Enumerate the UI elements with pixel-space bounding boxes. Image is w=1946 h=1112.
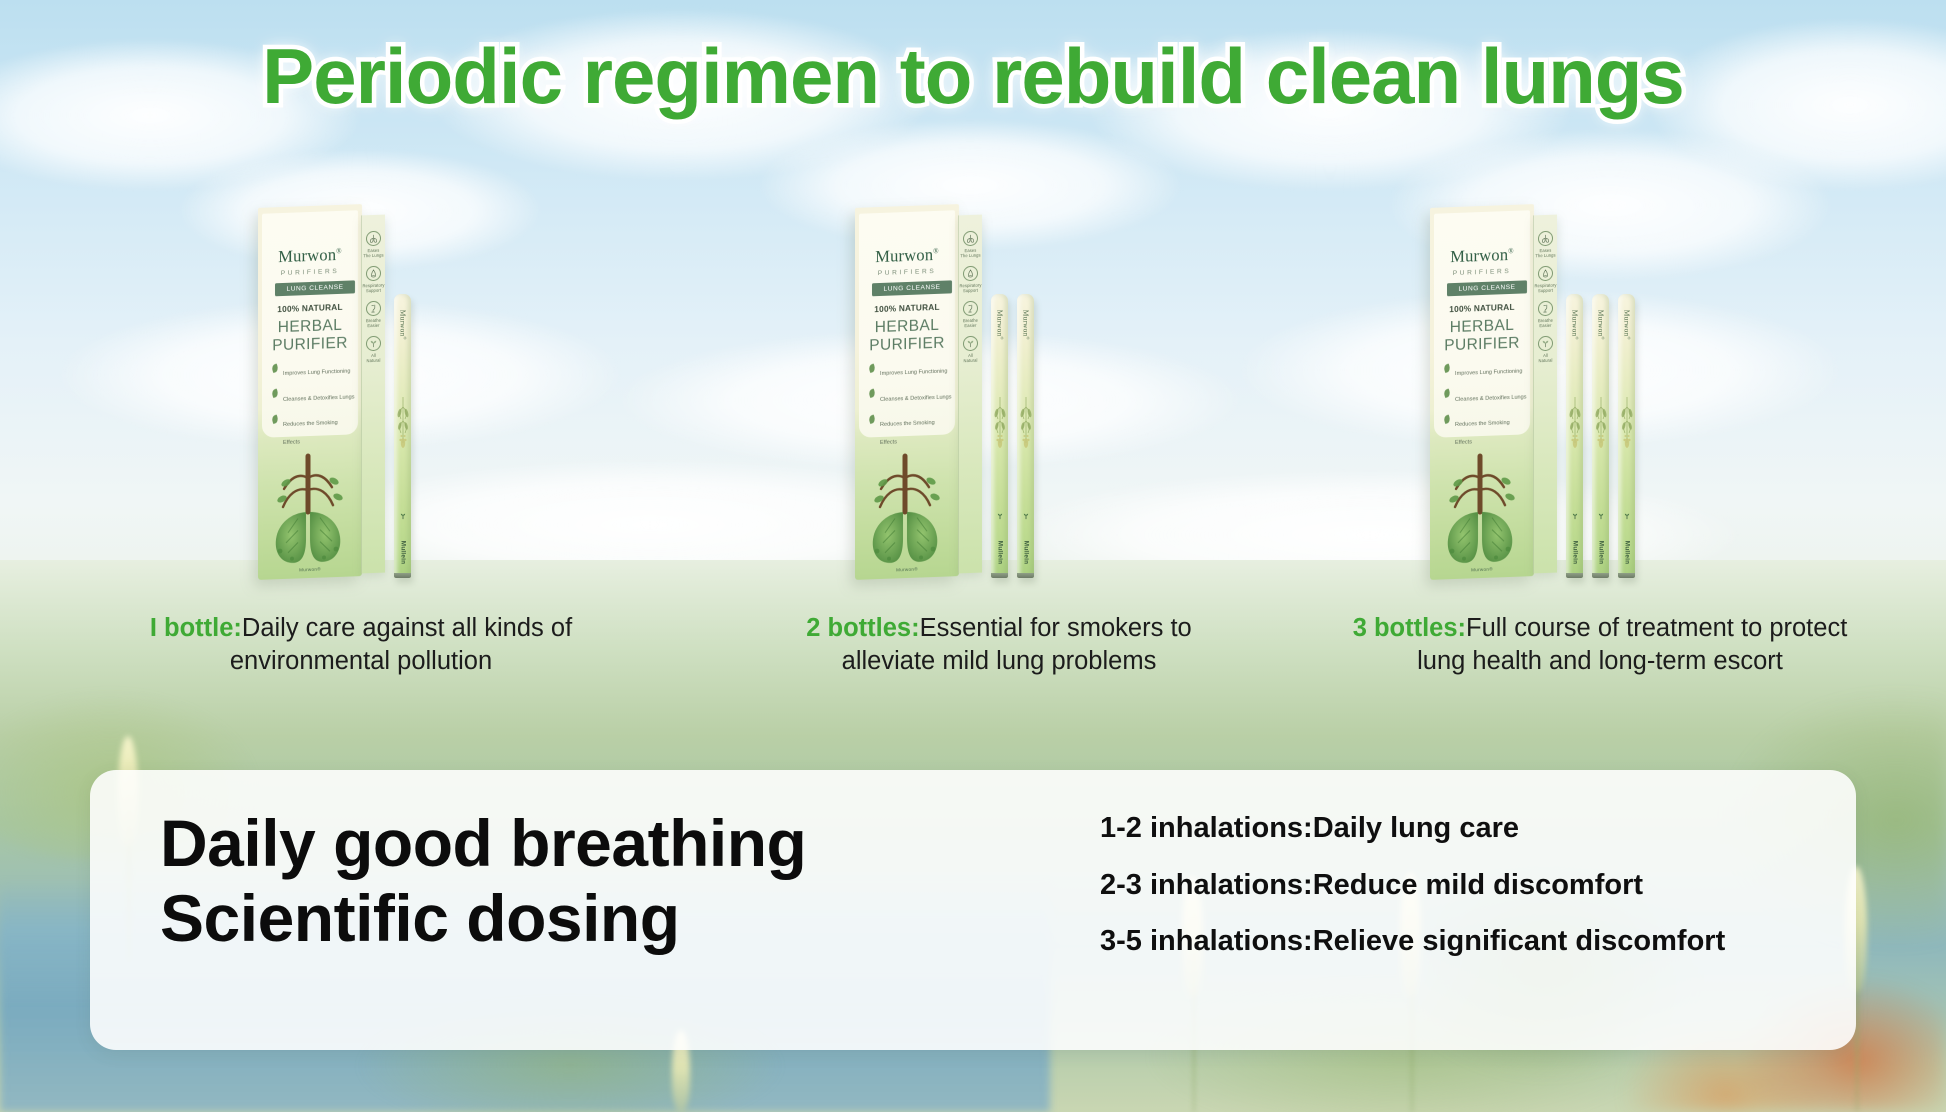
side-feature-respiratory-support: Respiratory Support (362, 266, 385, 294)
product-box[interactable]: Murwon® PURIFIERS LUNG CLEANSE 100% NATU… (855, 204, 959, 580)
product-row: Murwon® PURIFIERS LUNG CLEANSE 100% NATU… (258, 178, 411, 578)
stick-brand-label: Murwon® (1570, 310, 1579, 340)
box-front-face: Murwon® PURIFIERS LUNG CLEANSE 100% NATU… (1430, 204, 1534, 580)
product-row: Murwon® PURIFIERS LUNG CLEANSE 100% NATU… (855, 178, 1034, 578)
stick-herb-name: Mullein (1022, 541, 1029, 564)
box-side-panel: Eases The Lungs Respiratory Support (958, 215, 982, 574)
airway-icon (963, 301, 978, 317)
benefit-text: Improves Lung Functioning (880, 369, 947, 377)
stick-end-cap (991, 573, 1008, 578)
stick-sprout-icon (1596, 511, 1605, 520)
benefit-text: Cleanses & Detoxifies Lungs (283, 394, 355, 403)
stick-herb-name: Mullein (1623, 541, 1630, 564)
brand-name: Murwon® (855, 244, 959, 268)
side-feature-label: Respiratory Support (1534, 282, 1557, 293)
stick-sprout-icon (1570, 511, 1579, 520)
box-side-panel: Eases The Lungs Respiratory Support (361, 215, 385, 574)
inhaler-stick[interactable]: Murwon® Mullein (1618, 294, 1635, 578)
stick-brand-word: Murwon (995, 310, 1004, 337)
nose-icon (366, 266, 381, 282)
product-box[interactable]: Murwon® PURIFIERS LUNG CLEANSE 100% NATU… (1430, 204, 1534, 580)
stick-brand-label: Murwon® (1622, 310, 1631, 340)
leaf-sprout-icon (963, 336, 978, 352)
registered-mark: ® (933, 247, 939, 255)
product-group-2-bottles: Murwon® PURIFIERS LUNG CLEANSE 100% NATU… (855, 178, 1034, 578)
side-feature-label: All Natural (362, 352, 385, 363)
airway-glyph (367, 302, 380, 315)
brand-name: Murwon® (1430, 244, 1534, 268)
product-group-3-bottles: Murwon® PURIFIERS LUNG CLEANSE 100% NATU… (1430, 178, 1635, 578)
stick-herb-name: Mullein (996, 541, 1003, 564)
lungs-glyph (367, 232, 380, 245)
product-row: Murwon® PURIFIERS LUNG CLEANSE 100% NATU… (1430, 178, 1635, 578)
benefit-item: Cleanses & Detoxifies Lungs (272, 385, 356, 406)
inhaler-stick[interactable]: Murwon® Mullein (1566, 294, 1583, 578)
registered-mark: ® (999, 336, 1004, 339)
lung-tree-svg (855, 436, 959, 580)
nose-glyph (964, 267, 977, 280)
leaf-sprout-icon (1538, 336, 1553, 352)
dose-item: 3-5 inhalations:Relieve significant disc… (1100, 923, 1820, 960)
inhaler-stick-group: Murwon® Mullein Murwon® (1566, 294, 1635, 578)
side-feature-label: All Natural (1534, 352, 1557, 363)
caption-bold-label: I bottle: (150, 614, 242, 642)
leaf-sprout-glyph (367, 337, 380, 350)
stick-sprout-icon (1021, 511, 1030, 520)
box-front-face: Murwon® PURIFIERS LUNG CLEANSE 100% NATU… (855, 204, 959, 580)
inhaler-stick[interactable]: Murwon® Mullein (991, 294, 1008, 578)
side-feature-breathe-easier: Breathe Easier (362, 301, 385, 329)
panel-headline-line-1: Daily good breathing (160, 806, 1040, 881)
airway-icon (366, 301, 381, 317)
mullein-plant-icon (1618, 393, 1635, 451)
leaf-bullet-icon (868, 363, 876, 373)
registered-mark: ® (1600, 336, 1605, 339)
lung-tree-svg (1430, 436, 1534, 580)
lungs-icon (1538, 231, 1553, 247)
stick-end-cap (1618, 573, 1635, 578)
stick-brand-word: Murwon (1596, 310, 1605, 337)
stick-sprout-icon (398, 511, 407, 520)
side-feature-all-natural: All Natural (959, 336, 982, 364)
mullein-plant-icon (394, 393, 411, 451)
stick-brand-label: Murwon® (1021, 310, 1030, 340)
side-feature-label: Breathe Easier (959, 317, 982, 328)
side-feature-label: Eases The Lungs (1534, 247, 1557, 258)
brand-word: Murwon (875, 245, 933, 266)
side-feature-eases-the-lungs: Eases The Lungs (1534, 231, 1557, 259)
box-side-panel: Eases The Lungs Respiratory Support (1533, 215, 1557, 574)
brand-word: Murwon (278, 245, 336, 266)
stick-sprout-icon (1622, 511, 1631, 520)
leaf-sprout-glyph (964, 337, 977, 350)
benefit-text: Improves Lung Functioning (1455, 369, 1522, 377)
leaf-sprout-glyph (1539, 337, 1552, 350)
nose-glyph (367, 267, 380, 280)
registered-mark: ® (402, 336, 407, 339)
benefit-text: Cleanses & Detoxifies Lungs (1455, 394, 1527, 403)
leaf-bullet-icon (271, 414, 279, 424)
stick-end-cap (1017, 573, 1034, 578)
mullein-plant-icon (991, 393, 1008, 451)
stick-brand-word: Murwon (398, 310, 407, 337)
benefit-item: Improves Lung Functioning (1444, 359, 1528, 380)
caption-text: Full course of treatment to protect lung… (1417, 614, 1847, 675)
stick-sprout-icon (995, 511, 1004, 520)
product-group-1-bottle: Murwon® PURIFIERS LUNG CLEANSE 100% NATU… (258, 178, 411, 578)
benefit-text: Cleanses & Detoxifies Lungs (880, 394, 952, 403)
registered-mark: ® (1626, 336, 1631, 339)
registered-mark: ® (1025, 336, 1030, 339)
group-caption-3: 3 bottles:Full course of treatment to pr… (1350, 612, 1850, 677)
side-feature-respiratory-support: Respiratory Support (1534, 266, 1557, 294)
inhaler-stick[interactable]: Murwon® Mullein (1592, 294, 1609, 578)
panel-headline-line-2: Scientific dosing (160, 881, 1040, 956)
stick-brand-label: Murwon® (1596, 310, 1605, 340)
leaf-bullet-icon (1443, 363, 1451, 373)
lungs-glyph (1539, 232, 1552, 245)
page-title: Periodic regimen to rebuild clean lungs (0, 36, 1946, 118)
side-feature-label: All Natural (959, 352, 982, 363)
lung-tree-artwork (855, 436, 959, 580)
nose-icon (1538, 266, 1553, 282)
side-feature-label: Respiratory Support (362, 282, 385, 293)
lungs-icon (963, 231, 978, 247)
nose-glyph (1539, 267, 1552, 280)
stick-end-cap (1566, 573, 1583, 578)
inhaler-stick[interactable]: Murwon® (394, 294, 411, 578)
dosing-panel: Daily good breathing Scientific dosing 1… (90, 770, 1856, 1050)
side-feature-eases-the-lungs: Eases The Lungs (362, 231, 385, 259)
box-front-face: Murwon® PURIFIERS LUNG CLEANSE 100% NATU… (258, 204, 362, 580)
airway-glyph (1539, 302, 1552, 315)
stick-brand-word: Murwon (1570, 310, 1579, 337)
inhaler-stick-group: Murwon® (394, 294, 411, 578)
brand-word: Murwon (1450, 245, 1508, 266)
airway-icon (1538, 301, 1553, 317)
product-name-line-2: PURIFIER (258, 334, 362, 356)
inhaler-stick[interactable]: Murwon® Mullein (1017, 294, 1034, 578)
benefit-item: Cleanses & Detoxifies Lungs (869, 385, 953, 406)
leaf-bullet-icon (868, 414, 876, 424)
side-feature-all-natural: All Natural (362, 336, 385, 364)
nose-icon (963, 266, 978, 282)
stick-brand-word: Murwon (1622, 310, 1631, 337)
benefit-text: Improves Lung Functioning (283, 369, 350, 377)
caption-bold-label: 2 bottles: (806, 614, 919, 642)
lung-tree-artwork (1430, 436, 1534, 580)
brand-name: Murwon® (258, 244, 362, 268)
leaf-bullet-icon (271, 388, 279, 398)
benefit-item: Improves Lung Functioning (272, 359, 356, 380)
stick-brand-label: Murwon® (995, 310, 1004, 340)
side-feature-label: Eases The Lungs (362, 247, 385, 258)
leaf-bullet-icon (1443, 414, 1451, 424)
product-name-line-2: PURIFIER (855, 334, 959, 356)
lungs-glyph (964, 232, 977, 245)
dose-instruction-list: 1-2 inhalations:Daily lung care 2-3 inha… (1100, 810, 1820, 980)
mullein-plant-icon (1592, 393, 1609, 451)
inhaler-stick-group: Murwon® Mullein Murwon® (991, 294, 1034, 578)
airway-glyph (964, 302, 977, 315)
dose-item: 2-3 inhalations:Reduce mild discomfort (1100, 867, 1820, 904)
lung-tree-svg (258, 436, 362, 580)
registered-mark: ® (336, 247, 342, 255)
stick-brand-word: Murwon (1021, 310, 1030, 337)
stick-herb-name: Mullein (1597, 541, 1604, 564)
stick-end-cap (1592, 573, 1609, 578)
stick-herb-name: Mullein (399, 541, 406, 564)
benefit-item: Improves Lung Functioning (869, 359, 953, 380)
mullein-plant-icon (1017, 393, 1034, 451)
benefit-item: Cleanses & Detoxifies Lungs (1444, 385, 1528, 406)
product-box[interactable]: Murwon® PURIFIERS LUNG CLEANSE 100% NATU… (258, 204, 362, 580)
lung-tree-artwork (258, 436, 362, 580)
registered-mark: ® (1574, 336, 1579, 339)
dose-item: 1-2 inhalations:Daily lung care (1100, 810, 1820, 847)
side-feature-label: Respiratory Support (959, 282, 982, 293)
product-name-line-2: PURIFIER (1430, 334, 1534, 356)
stick-end-cap (394, 573, 411, 578)
side-feature-label: Breathe Easier (1534, 317, 1557, 328)
leaf-bullet-icon (271, 363, 279, 373)
registered-mark: ® (1508, 247, 1514, 255)
group-caption-2: 2 bottles:Essential for smokers to allev… (770, 612, 1228, 677)
side-feature-label: Eases The Lungs (959, 247, 982, 258)
group-caption-1: I bottle:Daily care against all kinds of… (78, 612, 644, 677)
stick-herb-name: Mullein (1571, 541, 1578, 564)
caption-text: Daily care against all kinds of environm… (230, 614, 572, 675)
leaf-bullet-icon (868, 388, 876, 398)
caption-bold-label: 3 bottles: (1353, 614, 1466, 642)
panel-headline: Daily good breathing Scientific dosing (160, 806, 1040, 955)
side-feature-respiratory-support: Respiratory Support (959, 266, 982, 294)
mullein-plant-icon (1566, 393, 1583, 451)
leaf-bullet-icon (1443, 388, 1451, 398)
leaf-sprout-icon (366, 336, 381, 352)
side-feature-label: Breathe Easier (362, 317, 385, 328)
stick-brand-label: Murwon® (398, 310, 407, 340)
lungs-icon (366, 231, 381, 247)
side-feature-all-natural: All Natural (1534, 336, 1557, 364)
side-feature-breathe-easier: Breathe Easier (959, 301, 982, 329)
side-feature-breathe-easier: Breathe Easier (1534, 301, 1557, 329)
side-feature-eases-the-lungs: Eases The Lungs (959, 231, 982, 259)
